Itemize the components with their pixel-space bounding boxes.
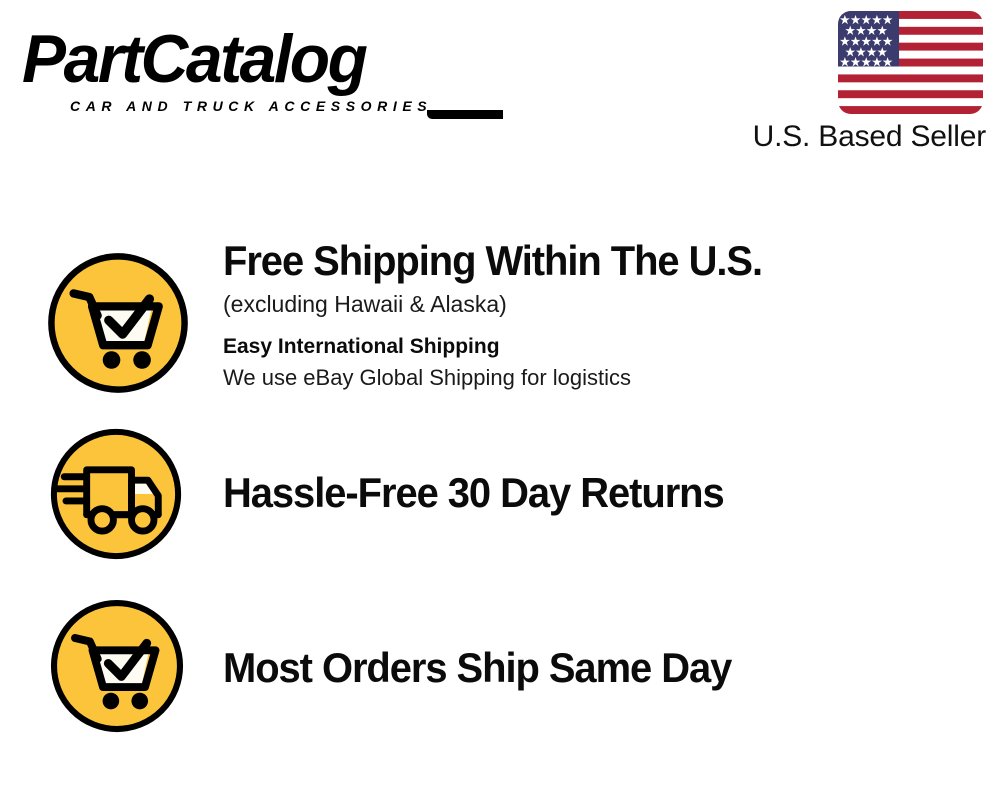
promo-banner: PartCatalog CAR AND TRUCK ACCESSORIES <box>0 0 1000 800</box>
logo-swash-stroke <box>427 110 503 119</box>
shopping-cart-check-icon <box>47 596 187 736</box>
feature-heading: Most Orders Ship Same Day <box>223 643 731 693</box>
feature-text-free-shipping: Free Shipping Within The U.S. (excluding… <box>223 236 790 393</box>
shopping-cart-check-icon <box>44 249 192 397</box>
feature-heading: Hassle-Free 30 Day Returns <box>223 468 724 518</box>
brand-wordmark: PartCatalog <box>22 24 366 94</box>
feature-description: We use eBay Global Shipping for logistic… <box>223 362 790 393</box>
feature-text-same-day: Most Orders Ship Same Day <box>223 643 758 693</box>
delivery-truck-icon <box>47 425 185 563</box>
us-flag-icon <box>838 11 983 114</box>
feature-text-returns: Hassle-Free 30 Day Returns <box>223 468 750 518</box>
feature-heading: Free Shipping Within The U.S. <box>223 236 762 286</box>
feature-subheading: Easy International Shipping <box>223 332 790 362</box>
brand-logo: PartCatalog CAR AND TRUCK ACCESSORIES <box>22 24 492 119</box>
us-based-seller-label: U.S. Based Seller <box>753 118 986 156</box>
feature-note: (excluding Hawaii & Alaska) <box>223 288 790 320</box>
brand-tagline: CAR AND TRUCK ACCESSORIES <box>70 98 432 114</box>
